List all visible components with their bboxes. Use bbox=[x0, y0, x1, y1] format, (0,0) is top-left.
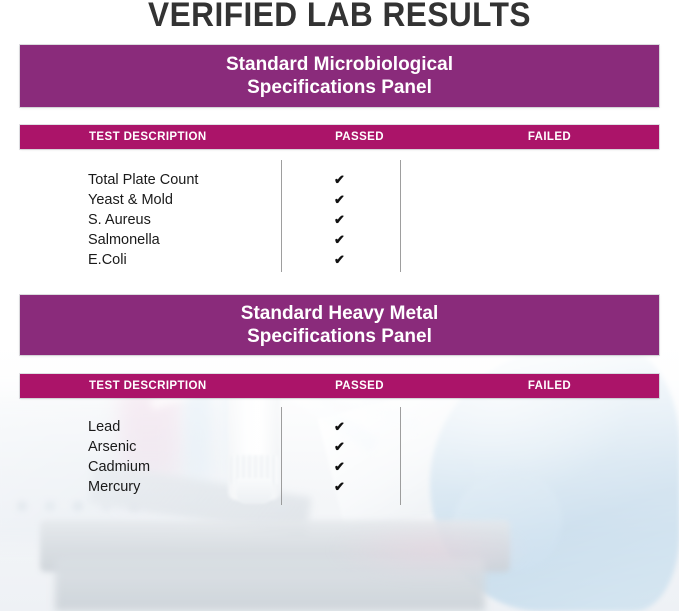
passed-checkmark-icon: ✔ bbox=[240, 437, 439, 457]
table-header-heavy-metal: TEST DESCRIPTION PASSED FAILED bbox=[20, 374, 659, 398]
passed-checkmark-icon: ✔ bbox=[240, 170, 439, 190]
panel-banner-line2: Specifications Panel bbox=[226, 76, 453, 99]
table-row: Salmonella ✔ bbox=[0, 230, 679, 250]
table-row: E.Coli ✔ bbox=[0, 250, 679, 270]
table-row: Yeast & Mold ✔ bbox=[0, 190, 679, 210]
panel-banner-heavy-metal: Standard Heavy Metal Specifications Pane… bbox=[20, 295, 659, 355]
passed-checkmark-icon: ✔ bbox=[240, 477, 439, 497]
test-description: E.Coli bbox=[88, 250, 127, 270]
test-description: Arsenic bbox=[88, 437, 136, 457]
passed-checkmark-icon: ✔ bbox=[240, 190, 439, 210]
table-row: Total Plate Count ✔ bbox=[0, 170, 679, 190]
table-row: Arsenic ✔ bbox=[0, 437, 679, 457]
column-header-description: TEST DESCRIPTION bbox=[89, 125, 289, 149]
test-description: Cadmium bbox=[88, 457, 150, 477]
test-description: Mercury bbox=[88, 477, 140, 497]
test-description: S. Aureus bbox=[88, 210, 151, 230]
passed-checkmark-icon: ✔ bbox=[240, 457, 439, 477]
table-row: Mercury ✔ bbox=[0, 477, 679, 497]
table-row: S. Aureus ✔ bbox=[0, 210, 679, 230]
passed-checkmark-icon: ✔ bbox=[240, 210, 439, 230]
column-header-failed: FAILED bbox=[450, 374, 649, 398]
table-row: Cadmium ✔ bbox=[0, 457, 679, 477]
column-header-passed: PASSED bbox=[260, 125, 459, 149]
test-description: Lead bbox=[88, 417, 120, 437]
panel-banner-line1: Standard Microbiological bbox=[226, 53, 453, 76]
passed-checkmark-icon: ✔ bbox=[240, 417, 439, 437]
table-header-microbiological: TEST DESCRIPTION PASSED FAILED bbox=[20, 125, 659, 149]
table-row: Lead ✔ bbox=[0, 417, 679, 437]
table-body-microbiological: Total Plate Count ✔ Yeast & Mold ✔ S. Au… bbox=[0, 160, 679, 272]
column-header-failed: FAILED bbox=[450, 125, 649, 149]
panel-banner-line2: Specifications Panel bbox=[241, 325, 438, 348]
panel-banner-microbiological: Standard Microbiological Specifications … bbox=[20, 45, 659, 107]
page-title: VERIFIED LAB RESULTS bbox=[24, 0, 655, 34]
table-body-heavy-metal: Lead ✔ Arsenic ✔ Cadmium ✔ Mercury ✔ bbox=[0, 407, 679, 505]
passed-checkmark-icon: ✔ bbox=[240, 250, 439, 270]
panel-banner-line1: Standard Heavy Metal bbox=[241, 302, 438, 325]
column-header-passed: PASSED bbox=[260, 374, 459, 398]
test-description: Yeast & Mold bbox=[88, 190, 173, 210]
test-description: Total Plate Count bbox=[88, 170, 198, 190]
passed-checkmark-icon: ✔ bbox=[240, 230, 439, 250]
column-header-description: TEST DESCRIPTION bbox=[89, 374, 289, 398]
test-description: Salmonella bbox=[88, 230, 160, 250]
